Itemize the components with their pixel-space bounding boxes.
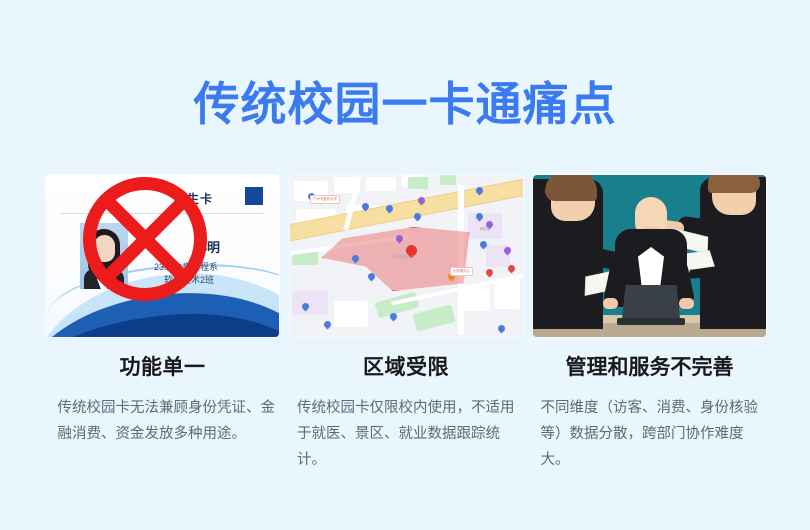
map-district	[468, 213, 502, 239]
card-body-text: 传统校园卡无法兼顾身份凭证、金融消费、资金发放多种用途。	[50, 395, 276, 447]
pain-point-card-management: 管理和服务不完善 不同维度（访客、消费、身份核验等）数据分散，跨部门协作难度大。	[533, 175, 766, 495]
pain-point-card-list: 学生卡 小明 23级信息工程系 软件技术2班	[46, 175, 766, 495]
card-body-text: 不同维度（访客、消费、身份核验等）数据分散，跨部门协作难度大。	[541, 395, 759, 473]
student-id-card-image: 学生卡 小明 23级信息工程系 软件技术2班	[46, 175, 279, 337]
office-meeting-graphic	[533, 175, 766, 337]
map-block	[334, 301, 368, 327]
card-heading: 功能单一	[120, 355, 206, 381]
map-pin	[496, 324, 506, 334]
map-pin	[322, 320, 332, 330]
center-person-hand-right	[679, 298, 694, 309]
map-park	[408, 177, 428, 189]
left-person-hair	[545, 175, 597, 201]
map-park	[412, 304, 455, 331]
map-label: 广州中医药大学	[310, 195, 341, 204]
laptop-screen	[622, 285, 680, 319]
map-label: 大学城中心	[450, 267, 474, 276]
map-district	[292, 291, 328, 315]
card-body-text: 传统校园卡仅限校内使用，不适用于就医、景区、就业数据跟踪统计。	[297, 395, 515, 473]
map-park	[440, 175, 456, 185]
card-heading: 管理和服务不完善	[566, 355, 734, 381]
map-block	[366, 177, 396, 191]
pain-point-card-functionality: 学生卡 小明 23级信息工程系 软件技术2班	[46, 175, 279, 495]
map-image: 广州中医药大学 大学城中心 广州中医药大学 地铁站	[290, 175, 523, 337]
right-person-hair	[708, 175, 760, 193]
map-graphic: 广州中医药大学 大学城中心 广州中医药大学 地铁站	[290, 175, 523, 337]
laptop-base	[617, 318, 685, 325]
pain-points-slide: 传统校园一卡通痛点 学生卡	[0, 0, 810, 530]
pain-point-card-area-limit: 广州中医药大学 大学城中心 广州中医药大学 地铁站 区域受限 传统校园卡仅限校内…	[290, 175, 523, 495]
office-meeting-image	[533, 175, 766, 337]
map-label: 地铁站	[480, 227, 491, 232]
page-title: 传统校园一卡通痛点	[0, 76, 810, 132]
map-pin	[484, 268, 494, 278]
school-logo-icon	[245, 187, 263, 205]
center-person-hand-left	[603, 298, 618, 309]
map-label: 广州中医药大学	[390, 255, 415, 260]
card-heading: 区域受限	[363, 355, 449, 381]
map-block	[494, 279, 520, 309]
ban-cross-icon	[83, 177, 207, 301]
